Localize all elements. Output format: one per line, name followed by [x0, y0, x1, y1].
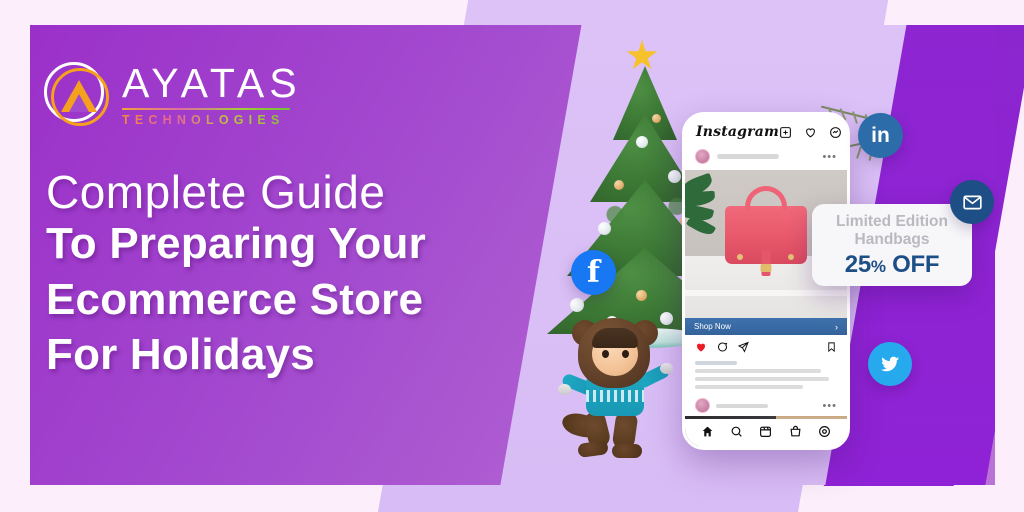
tree-ornament — [636, 290, 647, 301]
home-icon[interactable] — [701, 425, 714, 438]
brand-name: AYATAS — [122, 63, 302, 104]
author-name-placeholder — [716, 404, 768, 408]
headline-line-3: Ecommerce Store — [46, 272, 426, 327]
search-icon[interactable] — [730, 425, 743, 438]
post-author-row: ••• — [685, 149, 847, 170]
shop-now-cta[interactable]: Shop Now › — [685, 318, 847, 335]
instagram-bottom-nav — [685, 419, 847, 447]
mascot-hair — [592, 328, 638, 348]
handbag-handle — [745, 186, 787, 210]
banner-stage: AYATAS TECHNOLOGIES Complete Guide To Pr… — [0, 0, 1024, 512]
promo-off-label: OFF — [892, 251, 939, 278]
second-post-author-row: ••• — [685, 394, 847, 416]
post-actions — [685, 335, 847, 355]
brand-logo[interactable]: AYATAS TECHNOLOGIES — [44, 62, 302, 128]
profile-icon[interactable] — [818, 425, 831, 438]
instagram-header-icons — [779, 126, 842, 139]
linkedin-icon[interactable]: in — [858, 113, 903, 158]
heart-icon[interactable] — [804, 126, 817, 139]
tree-ornament — [570, 298, 584, 312]
mascot-sweater-pattern — [586, 390, 644, 402]
mascot-eye-right — [622, 350, 629, 358]
promo-percent-sign: % — [871, 257, 886, 276]
ayatas-arrow-logo-icon — [44, 62, 110, 128]
tree-ornament — [598, 222, 611, 235]
mascot-foot-right — [612, 444, 642, 458]
promo-line-2: Handbags — [855, 231, 930, 248]
promo-discount: 25% OFF — [845, 251, 939, 279]
linkedin-glyph: in — [871, 124, 890, 148]
star-icon — [626, 40, 658, 72]
facebook-icon[interactable]: f — [571, 250, 616, 295]
facebook-glyph: f — [587, 255, 600, 290]
shop-icon[interactable] — [789, 425, 802, 438]
twitter-icon[interactable] — [868, 342, 912, 386]
mascot-foot-left — [577, 440, 609, 458]
chevron-right-icon: › — [835, 322, 838, 332]
post-more-icon[interactable]: ••• — [822, 403, 837, 409]
brand-divider — [122, 108, 290, 110]
envelope-icon — [962, 192, 983, 213]
brand-tagline: TECHNOLOGIES — [122, 113, 302, 127]
brand-wordmark: AYATAS TECHNOLOGIES — [122, 63, 302, 127]
mascot-hand-left — [558, 384, 571, 395]
promo-badge: Limited Edition Handbags 25% OFF — [812, 204, 972, 286]
heart-icon[interactable] — [695, 341, 707, 353]
avatar[interactable] — [695, 149, 710, 164]
share-icon[interactable] — [737, 341, 749, 353]
logo-arrow-shape — [61, 80, 97, 112]
headline-line-1: Complete Guide — [46, 168, 426, 216]
author-name-placeholder — [717, 154, 779, 159]
headline-line-4: For Holidays — [46, 327, 426, 382]
headline-block: Complete Guide To Preparing Your Ecommer… — [46, 168, 426, 383]
promo-line-1: Limited Edition — [836, 213, 948, 230]
instagram-wordmark: Instagram — [696, 124, 779, 140]
mascot-hand-right — [660, 363, 673, 374]
add-post-icon[interactable] — [779, 126, 792, 139]
email-icon[interactable] — [950, 180, 994, 224]
bookmark-icon[interactable] — [826, 341, 837, 353]
post-caption-placeholder — [685, 355, 847, 394]
handbag-product — [725, 206, 807, 264]
tree-ornament — [652, 114, 661, 123]
mascot-eye-left — [602, 350, 609, 358]
promo-discount-number: 25 — [845, 251, 871, 278]
tree-ornament — [668, 170, 681, 183]
tree-ornament — [614, 180, 624, 190]
product-shelf — [685, 290, 847, 296]
avatar[interactable] — [695, 398, 710, 413]
astro-mascot-icon — [556, 318, 674, 458]
bird-icon — [879, 353, 901, 375]
tree-ornament — [636, 136, 648, 148]
reels-icon[interactable] — [759, 425, 772, 438]
messenger-icon[interactable] — [829, 126, 842, 139]
post-more-icon[interactable]: ••• — [822, 154, 837, 160]
headline-line-2: To Preparing Your — [46, 216, 426, 271]
instagram-header: Instagram — [685, 115, 847, 149]
comment-icon[interactable] — [716, 341, 728, 353]
shop-now-label: Shop Now — [694, 322, 731, 331]
